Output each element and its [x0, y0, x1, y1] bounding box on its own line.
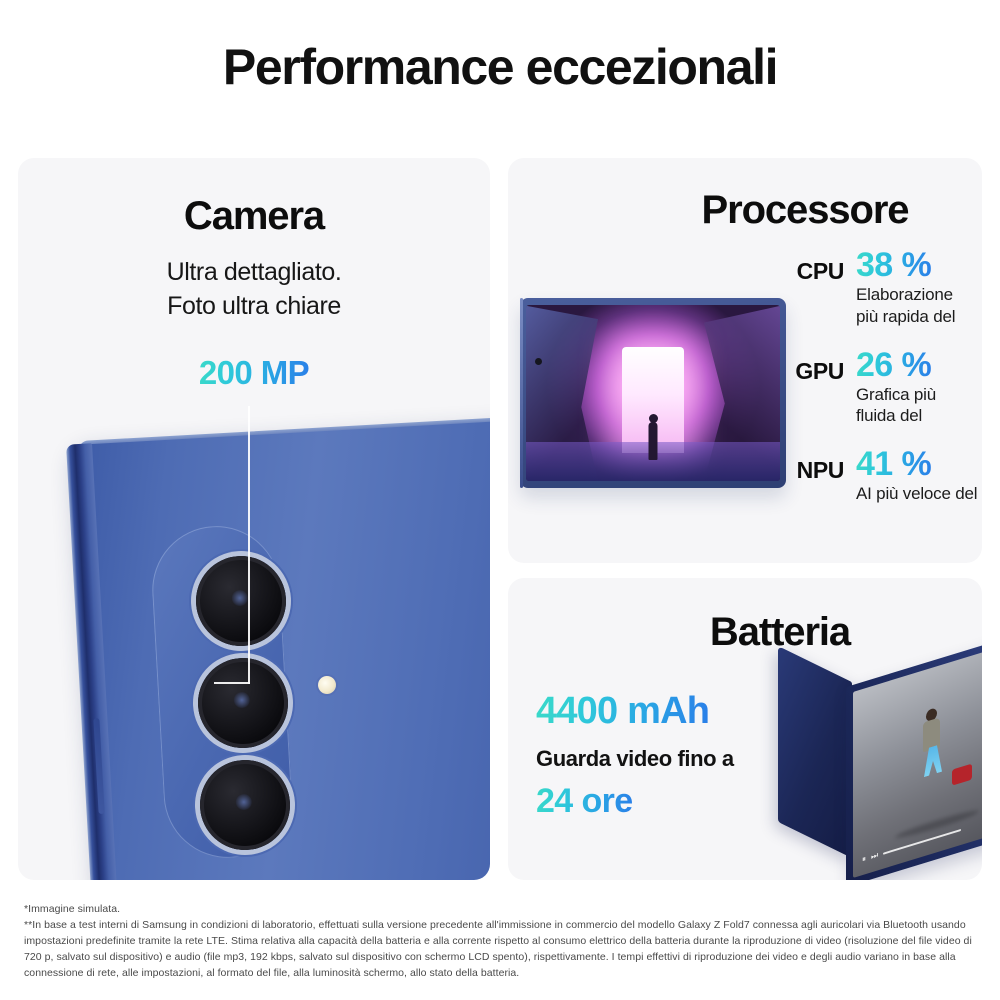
- stat-value-cpu-text: 38 %: [856, 246, 931, 284]
- footnote-line-2: **In base a test interni di Samsung in c…: [24, 918, 980, 982]
- tablet-hinge: [520, 298, 523, 488]
- pause-icon[interactable]: ⏸: [862, 855, 866, 864]
- stat-label-gpu: GPU: [782, 358, 844, 385]
- phone-hinge-spine: [66, 443, 120, 880]
- stat-desc-gpu: Grafica più fluida del: [856, 384, 982, 428]
- tablet-front-camera-icon: [535, 358, 542, 365]
- footnotes: *Immagine simulata. **In base a test int…: [24, 902, 980, 982]
- stat-label-cpu: CPU: [782, 258, 844, 285]
- tablet-illustration: [520, 298, 786, 488]
- next-track-icon[interactable]: ⏭: [871, 851, 878, 861]
- camera-flash-led: [318, 676, 337, 695]
- tablet-screen: [526, 305, 780, 481]
- processor-heading: Processore: [508, 190, 982, 230]
- camera-card: Camera Ultra dettagliato. Foto ultra chi…: [18, 158, 490, 880]
- page-title: Performance eccezionali: [0, 40, 1000, 95]
- stat-desc-npu: AI più veloce del: [856, 483, 982, 505]
- tent-device-screen: ⏸ ⏭: [853, 646, 982, 878]
- battery-heading: Batteria: [650, 612, 910, 652]
- stat-desc-gpu-line1: Grafica più: [856, 384, 982, 406]
- camera-module-bump: [149, 523, 295, 862]
- camera-subtitle: Ultra dettagliato. Foto ultra chiare: [18, 256, 490, 323]
- stat-desc-cpu-line1: Elaborazione: [856, 284, 982, 306]
- phone-body: [70, 419, 490, 880]
- camera-subtitle-line2: Foto ultra chiare: [18, 290, 490, 324]
- lens-glint-icon: [231, 590, 248, 607]
- video-subject-shadow: [895, 807, 979, 841]
- stat-desc-cpu-line2: più rapida del: [856, 306, 982, 328]
- camera-heading: Camera: [18, 196, 490, 236]
- stat-value-gpu-text: 26 %: [856, 346, 931, 384]
- battery-capacity: 4400 mAh: [536, 690, 709, 733]
- camera-lens-main-200mp: [196, 656, 291, 751]
- lens-glint-icon: [235, 794, 252, 811]
- camera-subtitle-line1: Ultra dettagliato.: [18, 256, 490, 290]
- processor-card: Processore CPU 38 % Elaborazione più rap…: [508, 158, 982, 563]
- camera-lens-telephoto: [198, 758, 293, 853]
- callout-connector-vertical: [248, 406, 250, 684]
- tent-mode-device-illustration: ⏸ ⏭: [770, 650, 982, 880]
- battery-hours: 24 ore: [536, 782, 633, 821]
- person-coat: [923, 717, 940, 752]
- stat-value-npu: 41 %: [856, 445, 982, 483]
- stat-row-gpu: GPU 26 % Grafica più fluida del: [788, 346, 982, 428]
- processor-stats-list: CPU 38 % Elaborazione più rapida del GPU…: [788, 246, 982, 523]
- tent-device-back-panel: [778, 646, 852, 858]
- person-legs: [924, 744, 942, 778]
- callout-connector-horizontal: [214, 682, 250, 684]
- video-progress-bar[interactable]: [883, 829, 961, 855]
- battery-subtitle: Guarda video fino a: [536, 746, 734, 772]
- stat-row-cpu: CPU 38 % Elaborazione più rapida del: [788, 246, 982, 328]
- phone-top-edge: [78, 415, 490, 453]
- stat-desc-gpu-line2: fluida del: [856, 405, 982, 427]
- stat-row-npu: NPU 41 % AI più veloce del: [788, 445, 982, 505]
- battery-hours-value: 24 ore: [536, 782, 633, 821]
- video-playback-controls[interactable]: ⏸ ⏭: [862, 826, 961, 864]
- stat-desc-cpu: Elaborazione più rapida del: [856, 284, 982, 328]
- battery-card: Batteria 4400 mAh Guarda video fino a 24…: [508, 578, 982, 880]
- phone-side-button: [93, 718, 104, 814]
- camera-lens-wide: [194, 554, 289, 649]
- camera-megapixels-value: 200 MP: [199, 354, 309, 392]
- stat-value-gpu: 26 %: [856, 346, 982, 384]
- camera-megapixels: 200 MP: [18, 354, 490, 392]
- lens-glint-icon: [233, 692, 250, 709]
- game-scene-character: [649, 422, 658, 460]
- stat-desc-npu-line1: AI più veloce del: [856, 483, 982, 505]
- tent-device-screen-panel: ⏸ ⏭: [846, 637, 982, 880]
- video-subject-bag: [952, 763, 972, 785]
- person-head: [926, 707, 937, 722]
- stat-value-cpu: 38 %: [856, 246, 982, 284]
- video-subject-person: [922, 706, 942, 778]
- footnote-line-1: *Immagine simulata.: [24, 902, 980, 918]
- stat-label-npu: NPU: [782, 457, 844, 484]
- stat-value-npu-text: 41 %: [856, 445, 931, 483]
- battery-capacity-value: 4400 mAh: [536, 690, 709, 733]
